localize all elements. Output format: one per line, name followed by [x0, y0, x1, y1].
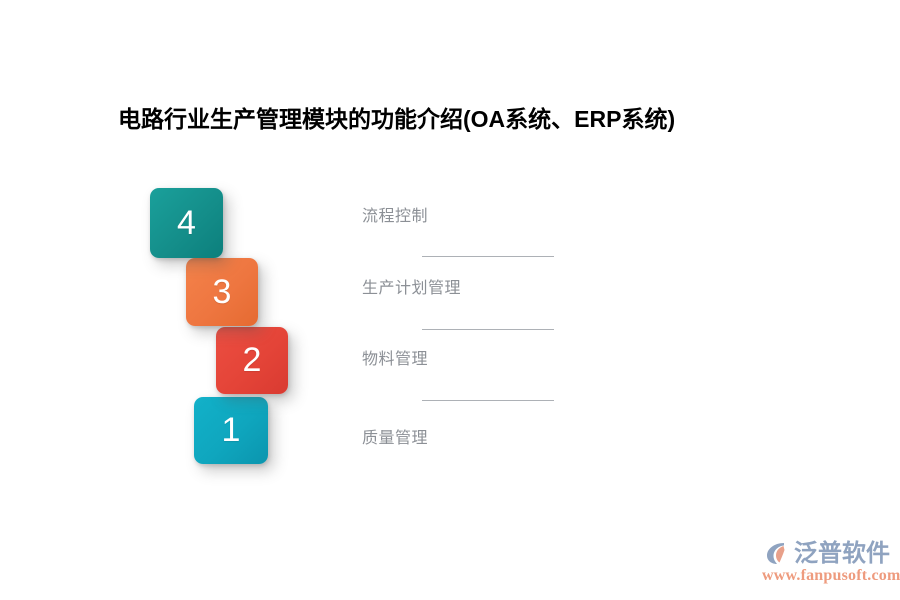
- number-block-3[interactable]: 3: [186, 258, 258, 326]
- watermark-brand-row: 泛普软件: [762, 536, 890, 570]
- slide-canvas: 电路行业生产管理模块的功能介绍(OA系统、ERP系统) 4 3 2 1 流程控制…: [0, 0, 900, 600]
- number-block-2-value: 2: [243, 341, 262, 380]
- watermark-logo: 泛普软件 www.fanpusoft.com: [762, 536, 894, 588]
- number-block-3-value: 3: [213, 273, 232, 312]
- watermark-brand-name: 泛普软件: [794, 538, 890, 568]
- number-block-2[interactable]: 2: [216, 327, 288, 394]
- number-block-4[interactable]: 4: [150, 188, 223, 258]
- feature-labels-group: 流程控制 生产计划管理 物料管理 质量管理: [0, 0, 900, 600]
- feature-label-production-plan: 生产计划管理: [362, 274, 461, 298]
- watermark-url: www.fanpusoft.com: [762, 567, 900, 585]
- number-block-1[interactable]: 1: [194, 397, 268, 464]
- feature-label-flow-control: 流程控制: [362, 202, 428, 226]
- number-block-1-value: 1: [222, 411, 241, 450]
- feature-label-quality: 质量管理: [362, 424, 428, 448]
- feature-label-material: 物料管理: [362, 345, 428, 369]
- fanpu-logo-icon: [762, 538, 792, 568]
- label-divider-1: [422, 256, 554, 257]
- label-divider-2: [422, 329, 554, 330]
- label-divider-3: [422, 400, 554, 401]
- number-block-4-value: 4: [177, 204, 196, 243]
